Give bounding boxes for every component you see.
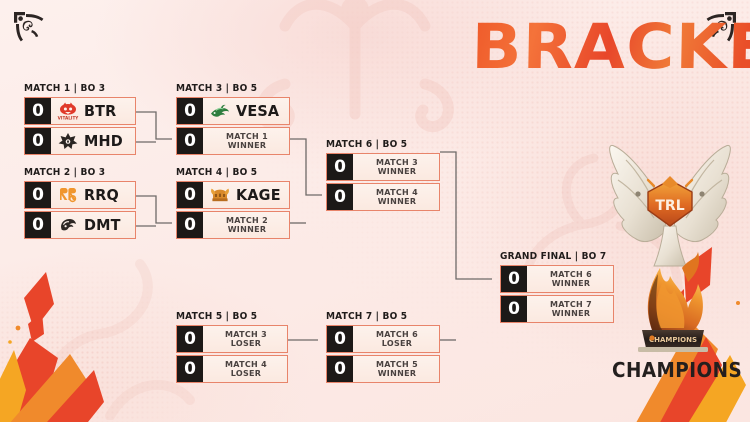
trophy-base-text: CHAMPIONS — [649, 336, 697, 344]
slot-score: 0 — [177, 212, 203, 238]
match-slot[interactable]: 0 MATCH 4 LOSER — [176, 355, 288, 383]
placeholder-line-1: MATCH 4 — [359, 188, 435, 197]
dmt-logo — [57, 215, 79, 235]
match-label: MATCH 2 | BO 3 — [24, 167, 130, 178]
placeholder-line-1: MATCH 6 — [359, 330, 435, 339]
match-label: MATCH 1 | BO 3 — [24, 83, 130, 94]
slot-placeholder: MATCH 5 WINNER — [359, 360, 439, 379]
match-card-match-5: MATCH 5 | BO 5 0 MATCH 3 LOSER 0 MATCH 4… — [176, 311, 288, 383]
placeholder-line-2: LOSER — [359, 339, 435, 348]
team-name: VESA — [236, 102, 279, 120]
match-slot[interactable]: 0 MHD — [24, 127, 136, 155]
slot-score: 0 — [327, 154, 353, 180]
placeholder-line-2: WINNER — [533, 309, 609, 318]
slot-placeholder: MATCH 7 WINNER — [533, 300, 613, 319]
slot-score: 0 — [177, 128, 203, 154]
flame-decoration-bottom-left — [0, 242, 174, 422]
slot-score: 0 — [501, 296, 527, 322]
slot-placeholder: MATCH 4 LOSER — [209, 360, 287, 379]
match-label: MATCH 3 | BO 5 — [176, 83, 284, 94]
placeholder-line-1: MATCH 7 — [533, 300, 609, 309]
match-slot[interactable]: 0 MATCH 4 WINNER — [326, 183, 440, 211]
match-slot[interactable]: 0 MATCH 7 WINNER — [500, 295, 614, 323]
rrq-logo — [57, 185, 79, 205]
match-label: GRAND FINAL | BO 7 — [500, 251, 608, 262]
placeholder-line-2: WINNER — [359, 167, 435, 176]
match-label: MATCH 4 | BO 5 — [176, 167, 284, 178]
match-slot[interactable]: 0 MATCH 2 WINNER — [176, 211, 290, 239]
match-slot[interactable]: 0 VITALITY BTR — [24, 97, 136, 125]
match-label: MATCH 6 | BO 5 — [326, 139, 434, 150]
slot-score: 0 — [501, 266, 527, 292]
placeholder-line-2: WINNER — [359, 369, 435, 378]
btr-logo: VITALITY — [57, 101, 79, 121]
match-slot[interactable]: 0 RRQ — [24, 181, 136, 209]
vesa-logo — [209, 101, 231, 121]
team-name: DMT — [84, 216, 121, 234]
trophy-graphic: TRL CHAMPIONS — [608, 118, 732, 356]
placeholder-line-1: MATCH 4 — [209, 360, 283, 369]
match-slot[interactable]: 0 KAGE — [176, 181, 290, 209]
team-name: RRQ — [84, 186, 119, 204]
slot-placeholder: MATCH 2 WINNER — [209, 216, 289, 235]
slot-placeholder: MATCH 3 WINNER — [359, 158, 439, 177]
slot-score: 0 — [25, 98, 51, 124]
match-slot[interactable]: 0 DMT — [24, 211, 136, 239]
match-label: MATCH 5 | BO 5 — [176, 311, 282, 322]
slot-score: 0 — [25, 182, 51, 208]
slot-placeholder: MATCH 6 LOSER — [359, 330, 439, 349]
match-slot[interactable]: 0 MATCH 1 WINNER — [176, 127, 290, 155]
slot-score: 0 — [177, 98, 203, 124]
match-card-match-1: MATCH 1 | BO 3 0 VITALITY BTR 0 — [24, 83, 136, 155]
slot-score: 0 — [327, 326, 353, 352]
team-name: BTR — [84, 102, 116, 120]
placeholder-line-2: WINNER — [359, 197, 435, 206]
trophy-emblem-text: TRL — [655, 198, 684, 214]
match-slot[interactable]: 0 MATCH 3 LOSER — [176, 325, 288, 353]
placeholder-line-1: MATCH 6 — [533, 270, 609, 279]
match-card-match-3: MATCH 3 | BO 5 0 VESA 0 MATCH 1 — [176, 83, 290, 155]
placeholder-line-2: WINNER — [209, 225, 285, 234]
match-card-match-7: MATCH 7 | BO 5 0 MATCH 6 LOSER 0 MATCH 5… — [326, 311, 440, 383]
slot-placeholder: MATCH 6 WINNER — [533, 270, 613, 289]
match-slot[interactable]: 0 MATCH 6 WINNER — [500, 265, 614, 293]
slot-score: 0 — [177, 182, 203, 208]
match-card-match-4: MATCH 4 | BO 5 0 KAGE 0 — [176, 167, 290, 239]
slot-score: 0 — [177, 356, 203, 382]
slot-score: 0 — [177, 326, 203, 352]
slot-score: 0 — [25, 128, 51, 154]
placeholder-line-2: LOSER — [209, 369, 283, 378]
svg-text:VITALITY: VITALITY — [58, 115, 79, 120]
team-name: MHD — [84, 132, 123, 150]
team-name: KAGE — [236, 186, 281, 204]
placeholder-line-1: MATCH 2 — [209, 216, 285, 225]
page-title: BRACKET — [471, 18, 750, 75]
match-card-match-6: MATCH 6 | BO 5 0 MATCH 3 WINNER 0 MATCH … — [326, 139, 440, 211]
match-slot[interactable]: 0 MATCH 5 WINNER — [326, 355, 440, 383]
mhd-logo — [57, 131, 79, 151]
slot-score: 0 — [327, 356, 353, 382]
placeholder-line-1: MATCH 3 — [209, 330, 283, 339]
match-slot[interactable]: 0 MATCH 6 LOSER — [326, 325, 440, 353]
placeholder-line-2: WINNER — [209, 141, 285, 150]
placeholder-line-1: MATCH 1 — [209, 132, 285, 141]
bracket-page: BRACKET — [0, 0, 750, 422]
match-card-grand-final: GRAND FINAL | BO 7 0 MATCH 6 WINNER 0 MA… — [500, 251, 614, 323]
slot-placeholder: MATCH 1 WINNER — [209, 132, 289, 151]
placeholder-line-2: LOSER — [209, 339, 283, 348]
match-slot[interactable]: 0 MATCH 3 WINNER — [326, 153, 440, 181]
corner-ornament-top-left — [12, 10, 46, 44]
slot-placeholder: MATCH 4 WINNER — [359, 188, 439, 207]
match-slot[interactable]: 0 VESA — [176, 97, 290, 125]
kage-logo — [209, 185, 231, 205]
slot-score: 0 — [327, 184, 353, 210]
slot-score: 0 — [25, 212, 51, 238]
placeholder-line-2: WINNER — [533, 279, 609, 288]
placeholder-line-1: MATCH 3 — [359, 158, 435, 167]
placeholder-line-1: MATCH 5 — [359, 360, 435, 369]
slot-placeholder: MATCH 3 LOSER — [209, 330, 287, 349]
match-label: MATCH 7 | BO 5 — [326, 311, 434, 322]
match-card-match-2: MATCH 2 | BO 3 0 RRQ 0 — [24, 167, 136, 239]
champions-caption: CHAMPIONS — [612, 358, 742, 382]
